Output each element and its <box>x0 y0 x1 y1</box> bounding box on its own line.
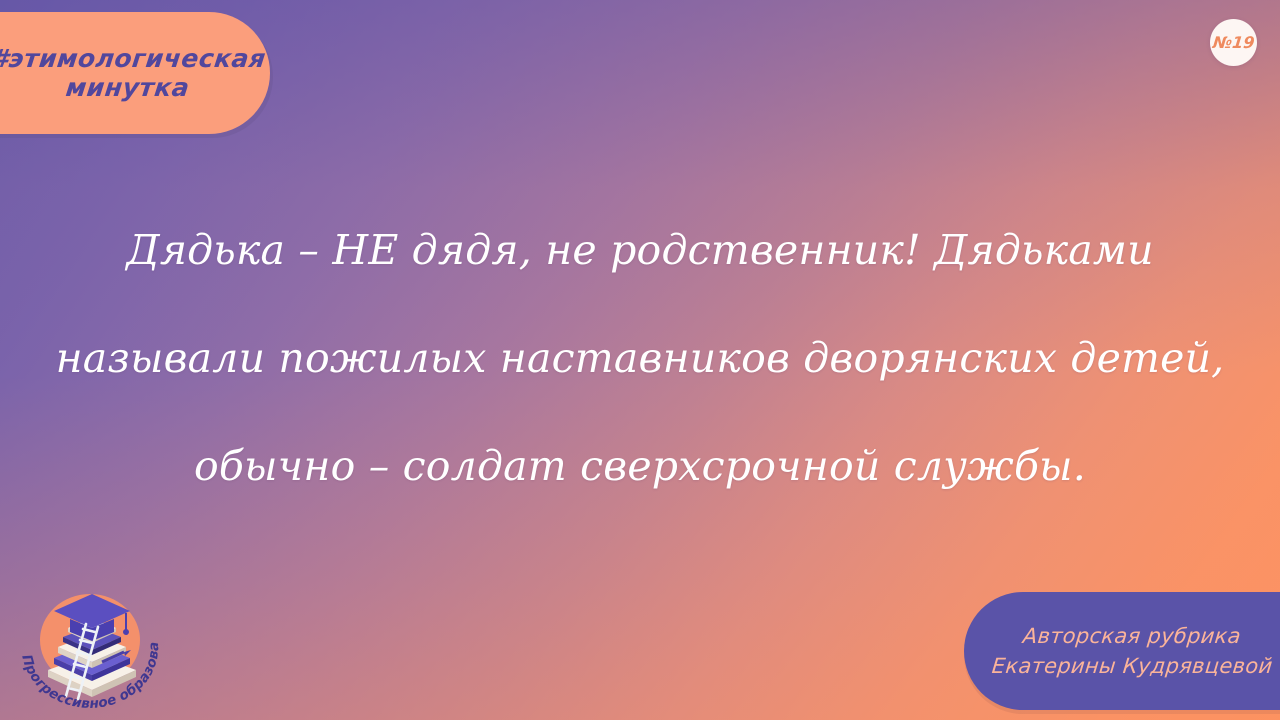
rubric-tag-line-1: #этимологическая <box>0 44 267 74</box>
rubric-tag-line-2: минутка <box>65 73 192 103</box>
author-credit-line-2: Екатерины Кудрявцевой <box>990 651 1274 681</box>
slide-canvas: #этимологическая минутка №19 Дядька – НЕ… <box>0 0 1280 720</box>
rubric-tag-badge: #этимологическая минутка <box>0 12 270 134</box>
organization-logo: Прогрессивное образование <box>8 578 176 718</box>
author-credit-badge: Авторская рубрика Екатерины Кудрявцевой <box>964 592 1280 710</box>
episode-number-badge: №19 <box>1210 19 1257 66</box>
quote-line-1: Дядька – НЕ дядя, не родственник! Дядька… <box>52 196 1228 304</box>
quote-text: Дядька – НЕ дядя, не родственник! Дядька… <box>0 196 1280 520</box>
quote-line-2: называли пожилых наставников дворянских … <box>52 304 1228 412</box>
author-credit-line-1: Авторская рубрика <box>1021 621 1242 651</box>
quote-line-3: обычно – солдат сверхсрочной службы. <box>52 412 1228 520</box>
episode-number-label: №19 <box>1212 33 1256 52</box>
